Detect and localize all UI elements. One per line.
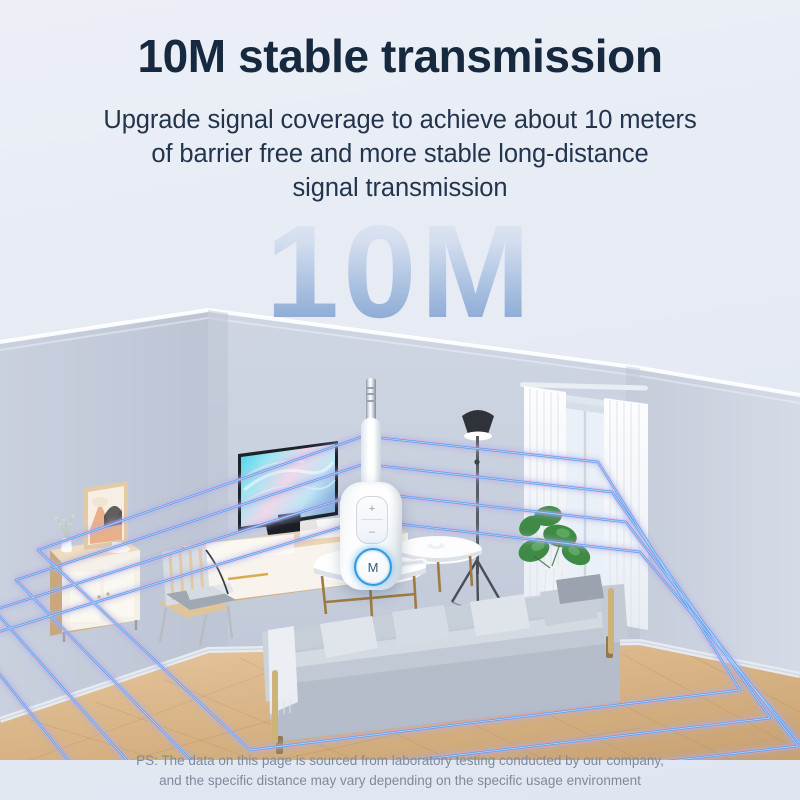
- volume-down-button[interactable]: –: [357, 527, 387, 538]
- subtitle: Upgrade signal coverage to achieve about…: [40, 104, 760, 206]
- volume-rocker[interactable]: + –: [356, 496, 388, 544]
- subtitle-line-2: of barrier free and more stable long-dis…: [40, 138, 760, 172]
- disclaimer-line-1: PS: The data on this page is sourced fro…: [60, 751, 740, 771]
- disclaimer-note: PS: The data on this page is sourced fro…: [60, 751, 740, 790]
- device-body: + – M: [340, 482, 402, 590]
- subtitle-line-1: Upgrade signal coverage to achieve about…: [40, 104, 760, 138]
- volume-up-button[interactable]: +: [357, 504, 387, 515]
- product-feature-poster: 10M stable transmission Upgrade signal c…: [0, 0, 800, 800]
- disclaimer-line-2: and the specific distance may vary depen…: [60, 771, 740, 791]
- mode-button[interactable]: M: [354, 548, 392, 586]
- framed-art: [84, 481, 128, 550]
- bluetooth-audio-adapter[interactable]: + – M: [340, 378, 402, 590]
- rocker-divider: [361, 519, 383, 520]
- page-title: 10M stable transmission: [0, 31, 800, 83]
